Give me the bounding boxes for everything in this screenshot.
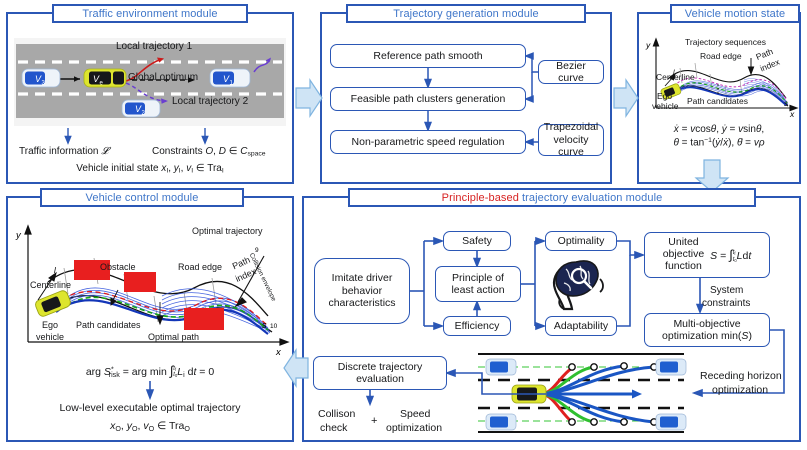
motion-module-title-text: Vehicle motion state: [685, 8, 785, 20]
traffic-vehicle: [486, 359, 516, 375]
svg-text:9: 9: [255, 247, 259, 254]
bezier-curve-box[interactable]: Bezier curve: [538, 60, 604, 84]
label-speed-optimization-2: optimization: [386, 422, 442, 434]
evaluation-title-accent: Principle-based: [442, 192, 519, 204]
step-label: Reference path smooth: [373, 50, 482, 62]
united-equation: S = ∫tft0Ldt: [710, 247, 751, 262]
label-receding-horizon-1: Receding horizon: [700, 370, 782, 382]
vehicle-v2: V 2: [122, 100, 160, 117]
trapezoid-label-line1: Trapezoidal: [544, 121, 598, 133]
discrete-line2: evaluation: [356, 373, 404, 385]
label-path-candidates-motion: Path candidates: [687, 97, 748, 107]
diagram-root: Traffic environment module: [0, 0, 807, 450]
imitate-driver-behavior-box[interactable]: Imitate driver behavior characteristics: [314, 258, 410, 324]
traffic-environment-module-title: Traffic environment module: [52, 4, 248, 23]
vehicle-motion-state-module-title: Vehicle motion state: [670, 4, 800, 23]
motion-equation-line1: ẋ = vcosθ, ẏ = vsinθ,: [637, 124, 801, 136]
svg-text:x: x: [789, 109, 795, 117]
svg-text:y: y: [15, 230, 22, 241]
svg-text:l: l: [54, 266, 56, 275]
united-line3: function: [665, 261, 702, 273]
control-module-title-text: Vehicle control module: [86, 192, 199, 204]
label-traffic-information: Traffic information 𝓛: [19, 146, 109, 158]
adaptability-box[interactable]: Adaptability: [545, 316, 617, 336]
motion-equation-line2: θ = tan−1(ẏ/ẋ), θ̇ = vρ: [637, 137, 801, 149]
imitate-line2: behavior: [342, 285, 382, 297]
label-optimal-trajectory: Optimal trajectory: [192, 226, 263, 236]
label-collision-check-1: Collison: [318, 408, 355, 420]
multi-objective-line2: optimization min(S): [662, 330, 752, 342]
safety-box[interactable]: Safety: [443, 231, 511, 251]
label-plus: +: [371, 415, 377, 428]
traffic-vehicle: [486, 414, 516, 430]
trajectory-evaluation-module-title: Principle-based trajectory evaluation mo…: [348, 188, 756, 207]
obstacle: [184, 308, 224, 330]
label-collision-check-2: check: [320, 422, 347, 434]
trapezoidal-velocity-box[interactable]: Trapezoidal velocity curve: [538, 124, 604, 156]
bezier-label: Bezier curve: [542, 60, 600, 85]
ego-vehicle-control: [34, 289, 72, 317]
label-obstacle: Obstacle: [100, 262, 136, 272]
least-action-line1: Principle of: [452, 272, 504, 284]
control-result-vars: xO, yO, vO ∈ TraO: [6, 420, 294, 433]
discrete-trajectory-evaluation-box[interactable]: Discrete trajectory evaluation: [313, 356, 447, 390]
vehicle-control-module-title: Vehicle control module: [40, 188, 244, 207]
step-feasible-path-clusters[interactable]: Feasible path clusters generation: [330, 87, 526, 111]
multi-objective-line1: Multi-objective: [673, 318, 740, 330]
label-centerline-control: Centerline: [30, 280, 71, 290]
step-speed-regulation[interactable]: Non-parametric speed regulation: [330, 130, 526, 154]
trajectory-generation-module-title: Trajectory generation module: [346, 4, 586, 23]
optimality-label: Optimality: [558, 235, 605, 247]
traffic-vehicle: [656, 414, 686, 430]
label-system-constraints-2: constraints: [702, 298, 750, 310]
imitate-line1: Imitate driver: [332, 272, 393, 284]
trapezoid-label-line2: velocity curve: [542, 134, 600, 159]
svg-text:10: 10: [270, 323, 278, 330]
label-optimal-path: Optimal path: [148, 332, 199, 342]
multi-objective-optimization-box[interactable]: Multi-objective optimization min(S): [644, 313, 770, 347]
svg-text:y: y: [645, 40, 651, 50]
efficiency-label: Efficiency: [455, 320, 500, 332]
label-path-candidates-control: Path candidates: [76, 320, 141, 330]
evaluation-title-rest: trajectory evaluation module: [522, 192, 662, 204]
efficiency-box[interactable]: Efficiency: [443, 316, 511, 336]
control-equation: arg S*risk = arg min ∫tft0Li dt = 0: [6, 364, 294, 379]
arrow-generation-to-motion: [614, 80, 638, 116]
label-vehicle-initial-state: Vehicle initial state xI, yI, vI ∈ TraI: [6, 163, 294, 176]
arrow-traffic-to-generation: [296, 80, 322, 116]
ego-vehicle: V e: [84, 69, 126, 87]
label-speed-optimization-1: Speed: [400, 408, 430, 420]
discrete-line1: Discrete trajectory: [338, 361, 423, 373]
imitate-line3: characteristics: [328, 297, 395, 309]
safety-label: Safety: [462, 235, 492, 247]
label-local-trajectory-2: Local trajectory 2: [172, 96, 248, 108]
principle-least-action-box[interactable]: Principle of least action: [435, 266, 521, 302]
traffic-module-title-text: Traffic environment module: [82, 8, 217, 20]
adaptability-label: Adaptability: [554, 320, 608, 332]
generation-module-title-text: Trajectory generation module: [393, 8, 538, 20]
brain-icon: [546, 253, 616, 315]
label-ego-vehicle-control-2: vehicle: [36, 332, 64, 342]
least-action-line2: least action: [451, 284, 504, 296]
label-ego-vehicle-control-1: Ego: [42, 320, 58, 330]
label-ego-vehicle-motion-2: vehicle: [652, 102, 678, 112]
united-objective-function-box[interactable]: United objective function S = ∫tft0Ldt: [644, 232, 770, 278]
receding-horizon-scene: [468, 348, 694, 438]
vehicle-v3: V 3: [22, 69, 60, 87]
vehicle-v1: V 1: [210, 69, 250, 87]
label-system-constraints-1: System: [710, 285, 743, 297]
label-centerline-motion: Centerline: [656, 73, 695, 83]
label-road-edge-motion: Road edge: [700, 52, 742, 62]
traffic-vehicle: [656, 359, 686, 375]
svg-text:s: s: [262, 320, 267, 330]
label-receding-horizon-2: optimization: [712, 384, 768, 396]
label-trajectory-sequences: Trajectory sequences: [685, 38, 766, 48]
label-road-edge-control: Road edge: [178, 262, 222, 272]
obstacle: [124, 272, 156, 292]
step-label: Non-parametric speed regulation: [352, 136, 505, 148]
label-constraints: Constraints O, D ∈ Cspace: [152, 146, 266, 159]
step-reference-path-smooth[interactable]: Reference path smooth: [330, 44, 526, 68]
svg-text:s: s: [784, 99, 788, 108]
step-label: Feasible path clusters generation: [351, 93, 506, 105]
label-global-optimum: Global optimum: [128, 72, 198, 84]
optimality-box[interactable]: Optimality: [545, 231, 617, 251]
svg-text:x: x: [275, 347, 282, 358]
control-result-line: Low-level executable optimal trajectory: [6, 402, 294, 414]
label-local-trajectory-1: Local trajectory 1: [116, 41, 192, 53]
ego-vehicle-receding: [512, 385, 546, 403]
